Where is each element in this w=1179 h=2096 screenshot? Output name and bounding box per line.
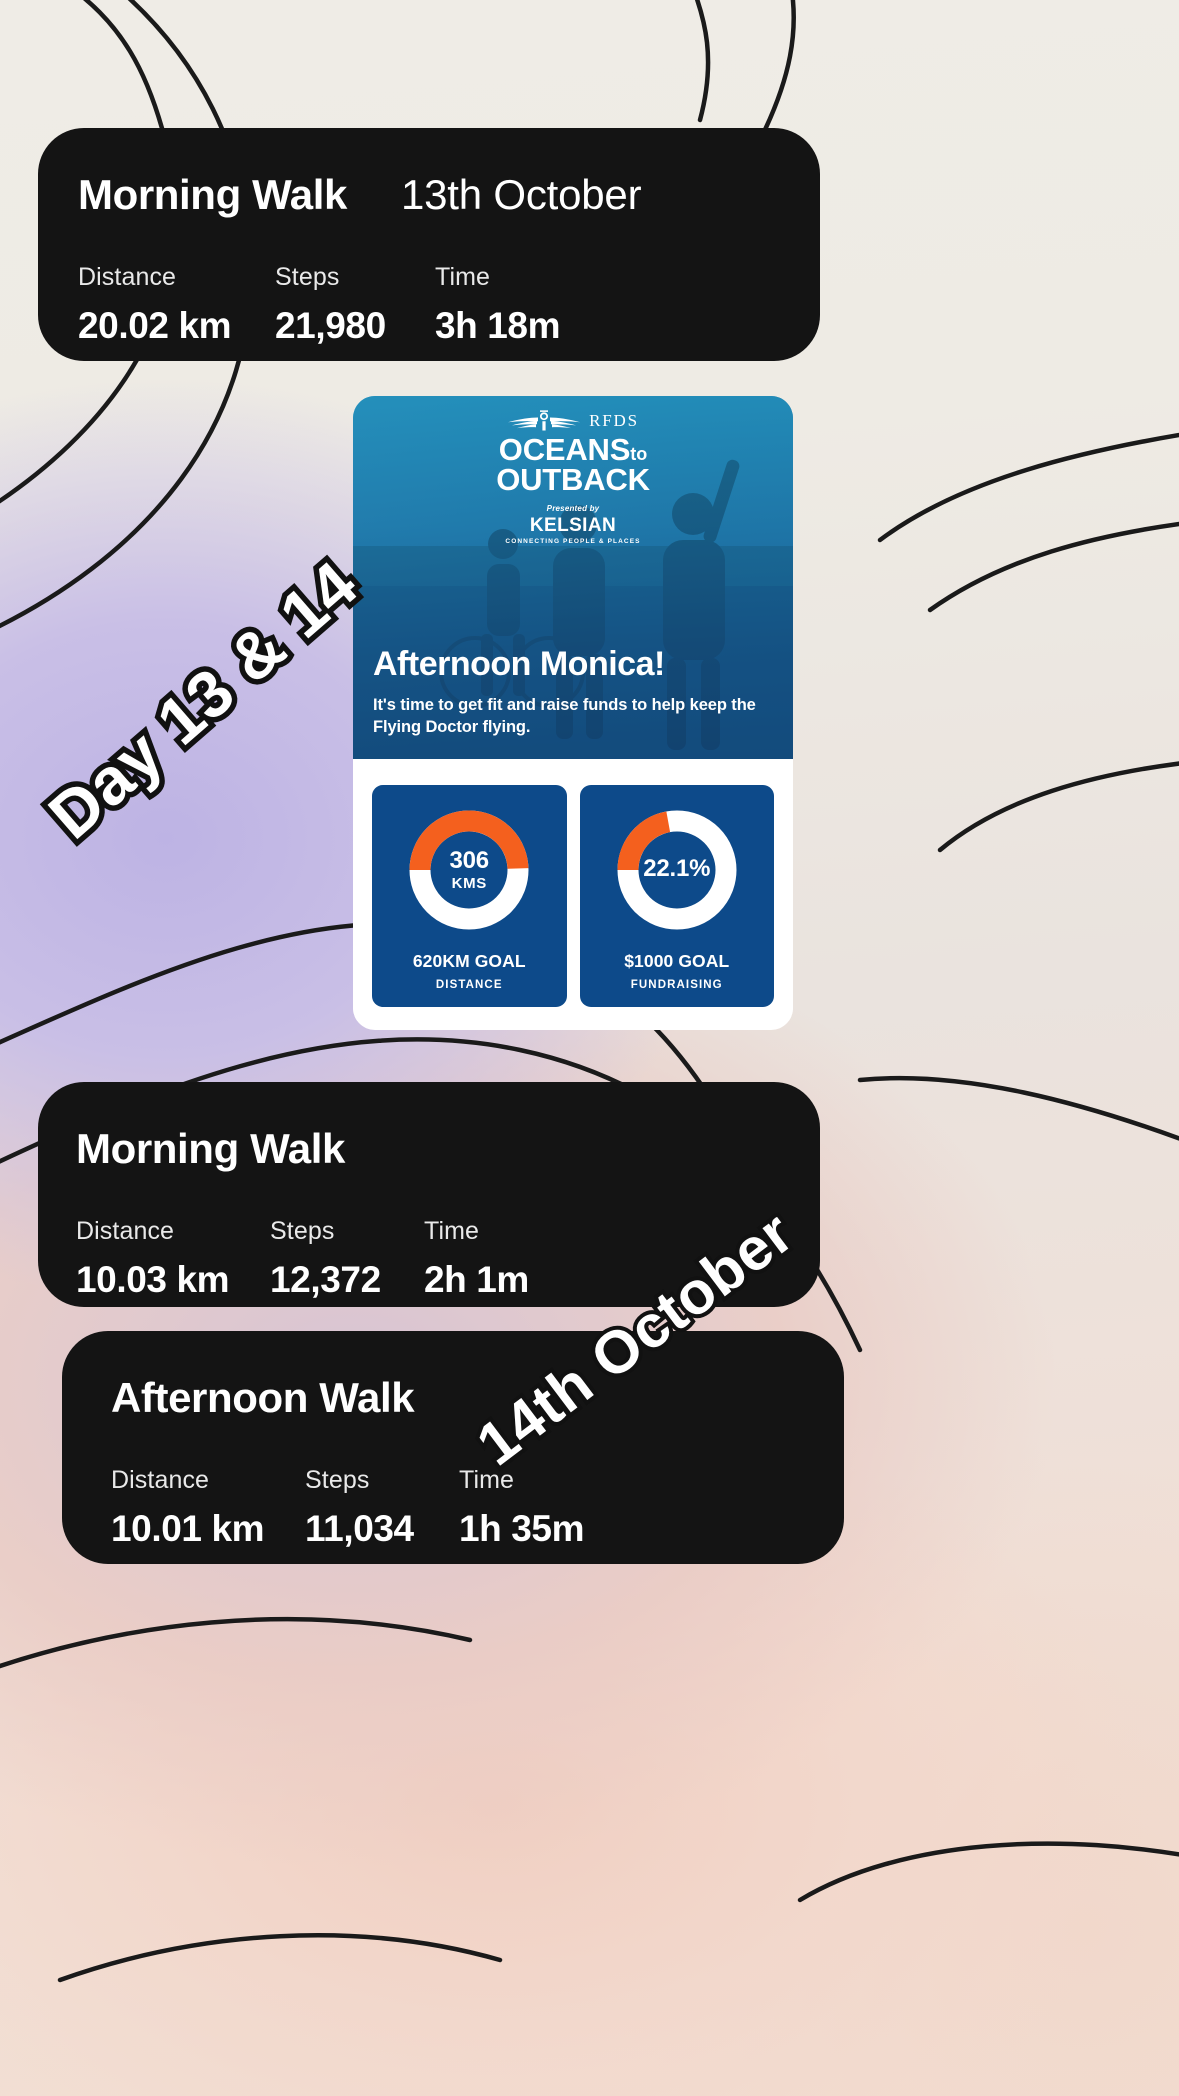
- fundraising-goal-subtitle: FUNDRAISING: [631, 979, 723, 991]
- goal-stats-row: 306 KMS 620KM GOAL DISTANCE 22.1% $1000 …: [353, 759, 793, 1021]
- metric-steps: Steps 21,980: [275, 263, 435, 347]
- metric-value: 10.01 km: [111, 1508, 305, 1550]
- metric-label: Distance: [78, 263, 275, 292]
- event-title-line1: OCEANSto: [353, 435, 793, 465]
- presented-by-label: Presented by: [353, 504, 793, 513]
- metric-value: 21,980: [275, 305, 435, 347]
- metric-value: 2h 1m: [424, 1259, 529, 1301]
- metric-distance: Distance 10.03 km: [76, 1217, 270, 1301]
- distance-unit: KMS: [452, 876, 487, 892]
- metrics-row: Distance 10.01 km Steps 11,034 Time 1h 3…: [111, 1466, 844, 1550]
- metric-label: Time: [424, 1217, 529, 1246]
- metric-label: Distance: [76, 1217, 270, 1246]
- metric-value: 3h 18m: [435, 305, 560, 347]
- metric-value: 20.02 km: [78, 305, 275, 347]
- metric-label: Steps: [275, 263, 435, 292]
- sponsor-tagline: CONNECTING PEOPLE & PLACES: [353, 538, 793, 545]
- event-title-to: to: [630, 444, 647, 464]
- metric-time: Time 1h 35m: [459, 1466, 584, 1550]
- metric-time: Time 2h 1m: [424, 1217, 529, 1301]
- card-header: Morning Walk 13th October: [78, 171, 820, 219]
- rfds-org-label: RFDS: [589, 411, 639, 431]
- metric-label: Steps: [270, 1217, 424, 1246]
- metric-value: 10.03 km: [76, 1259, 270, 1301]
- metric-steps: Steps 12,372: [270, 1217, 424, 1301]
- distance-value: 306: [450, 848, 489, 873]
- fundraising-goal-title: $1000 GOAL: [624, 951, 729, 972]
- fundraising-donut-chart: 22.1%: [612, 805, 742, 935]
- activity-card[interactable]: Morning Walk 13th October Distance 20.02…: [38, 128, 820, 361]
- distance-donut-center: 306 KMS: [404, 805, 534, 935]
- card-date: 13th October: [401, 171, 641, 219]
- distance-goal-subtitle: DISTANCE: [436, 979, 503, 991]
- hero-heading: Afternoon Monica!: [373, 647, 777, 682]
- metric-steps: Steps 11,034: [305, 1466, 459, 1550]
- hero-subheading: It's time to get fit and raise funds to …: [373, 695, 777, 739]
- fundraising-donut-center: 22.1%: [612, 805, 742, 935]
- fundraising-value: 22.1%: [643, 856, 710, 881]
- metric-distance: Distance 10.01 km: [111, 1466, 305, 1550]
- hero-copy: Afternoon Monica! It's time to get fit a…: [373, 647, 777, 739]
- card-title: Morning Walk: [76, 1125, 345, 1173]
- metric-value: 12,372: [270, 1259, 424, 1301]
- goal-card-distance[interactable]: 306 KMS 620KM GOAL DISTANCE: [372, 785, 567, 1007]
- rfds-logo-block: RFDS OCEANSto OUTBACK Presented by KELSI…: [353, 410, 793, 545]
- metric-label: Distance: [111, 1466, 305, 1495]
- metric-time: Time 3h 18m: [435, 263, 560, 347]
- rfds-promo-card[interactable]: RFDS OCEANSto OUTBACK Presented by KELSI…: [353, 396, 793, 1030]
- metrics-row: Distance 20.02 km Steps 21,980 Time 3h 1…: [78, 263, 820, 347]
- metric-value: 11,034: [305, 1508, 459, 1550]
- distance-donut-chart: 306 KMS: [404, 805, 534, 935]
- card-title: Morning Walk: [78, 171, 347, 219]
- metric-distance: Distance 20.02 km: [78, 263, 275, 347]
- sponsor-name: KELSIAN: [353, 515, 793, 537]
- metric-label: Steps: [305, 1466, 459, 1495]
- metric-label: Time: [459, 1466, 584, 1495]
- card-header: Morning Walk: [76, 1125, 820, 1173]
- rfds-wings-icon: [507, 410, 581, 432]
- card-title: Afternoon Walk: [111, 1374, 414, 1422]
- goal-card-fundraising[interactable]: 22.1% $1000 GOAL FUNDRAISING: [580, 785, 775, 1007]
- distance-goal-title: 620KM GOAL: [413, 951, 526, 972]
- promo-hero: RFDS OCEANSto OUTBACK Presented by KELSI…: [353, 396, 793, 759]
- metric-label: Time: [435, 263, 560, 292]
- activity-card[interactable]: Afternoon Walk Distance 10.01 km Steps 1…: [62, 1331, 844, 1564]
- metric-value: 1h 35m: [459, 1508, 584, 1550]
- event-title-line2: OUTBACK: [353, 465, 793, 495]
